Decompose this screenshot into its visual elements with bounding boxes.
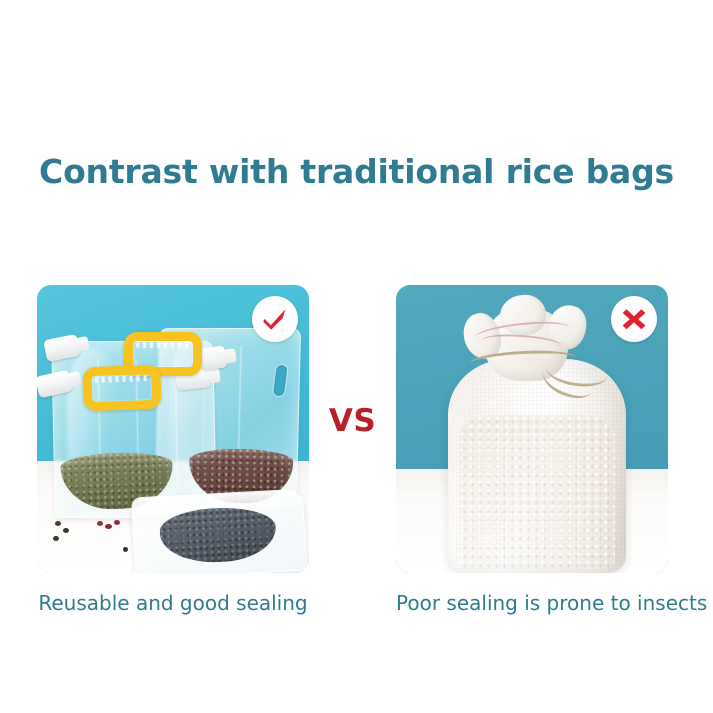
black-beans-heap — [159, 505, 278, 565]
flat-sealed-bag — [131, 489, 307, 573]
loose-bean — [97, 521, 103, 526]
traditional-rice-sack — [448, 359, 626, 573]
left-product-panel — [37, 285, 309, 573]
loose-bean — [55, 521, 61, 526]
pouch-hang-hole — [273, 365, 288, 397]
loose-bean — [53, 536, 59, 541]
page-title: Contrast with traditional rice bags — [0, 152, 713, 191]
vs-label: VS — [309, 403, 396, 439]
handle-grip-ridges — [95, 375, 149, 383]
loose-bean — [63, 528, 69, 533]
yellow-carry-handle — [82, 365, 161, 412]
left-panel-caption: Reusable and good sealing — [37, 591, 309, 615]
loose-bean — [123, 547, 128, 552]
status-badge-approved — [252, 296, 298, 342]
comparison-section: VS — [0, 285, 713, 573]
pouch-spout-cap — [199, 345, 227, 370]
right-product-panel — [396, 285, 668, 573]
loose-bean — [114, 520, 120, 525]
product-comparison-image: Contrast with traditional rice bags — [0, 0, 713, 713]
loose-bean — [105, 524, 112, 529]
check-icon — [260, 304, 290, 334]
status-badge-rejected — [611, 296, 657, 342]
rice-grain-texture — [459, 415, 616, 569]
cross-icon — [619, 304, 649, 334]
right-panel-caption: Poor sealing is prone to insects — [396, 591, 668, 615]
handle-grip-ridges — [136, 342, 190, 348]
